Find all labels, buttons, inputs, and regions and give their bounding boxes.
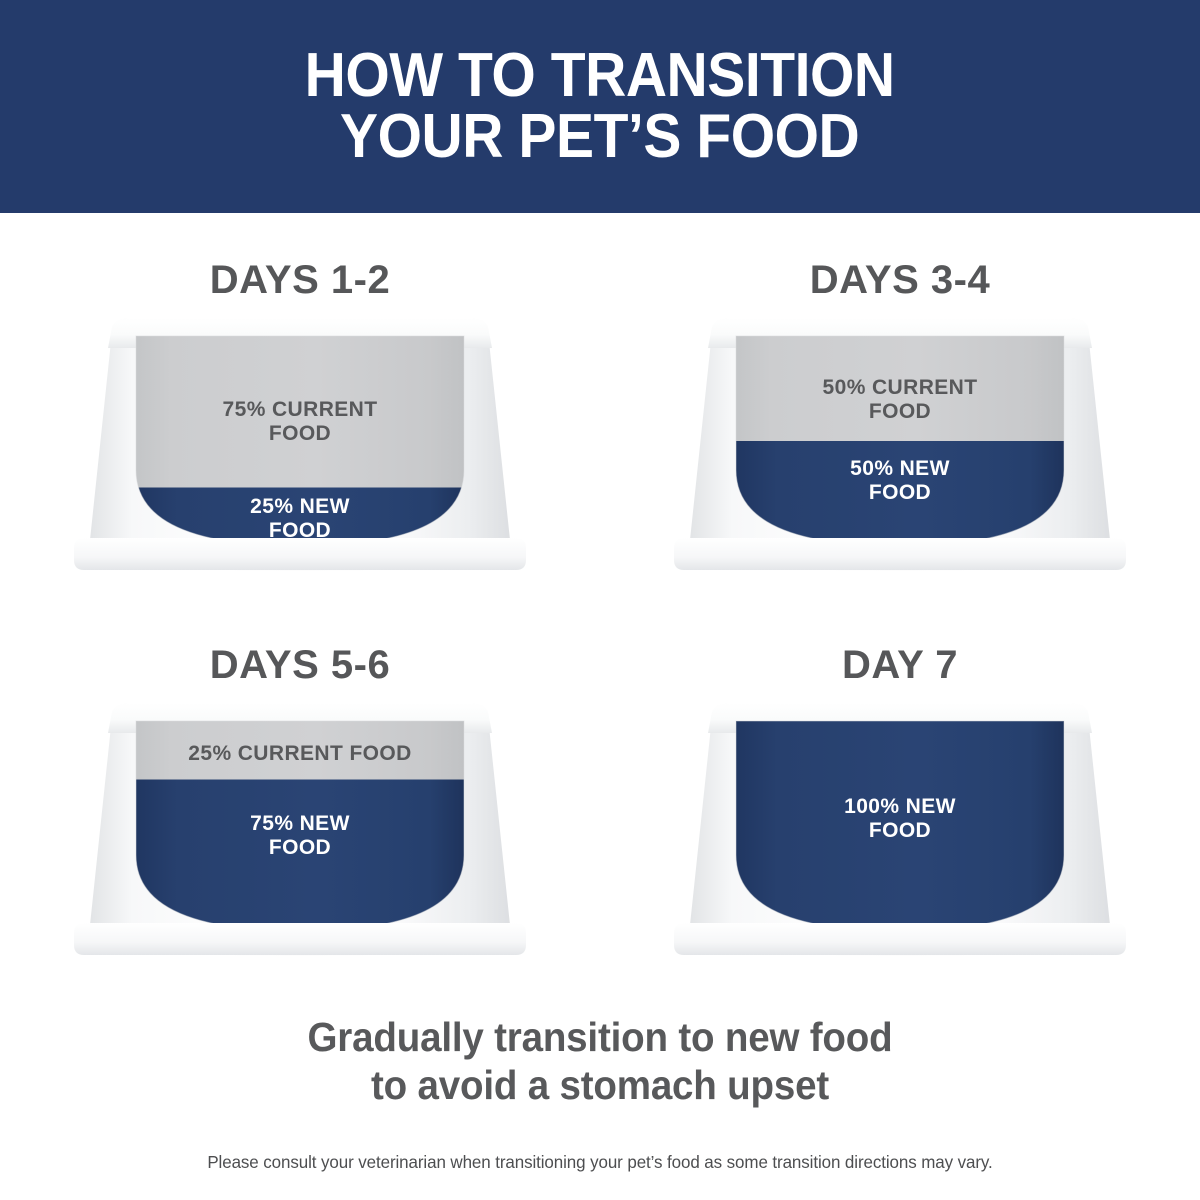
- transition-steps-grid: DAYS 1-2: [0, 213, 1200, 1013]
- food-bowl-days-1-2: 75% CURRENT FOOD 25% NEW FOOD: [40, 310, 560, 580]
- step-day-label: DAYS 3-4: [810, 213, 990, 300]
- disclaimer-text: Please consult your veterinarian when tr…: [18, 1110, 1182, 1173]
- food-bowl-days-3-4: 50% CURRENT FOOD 50% NEW FOOD: [640, 310, 1160, 580]
- step-card-days-3-4: DAYS 3-4: [600, 213, 1200, 598]
- bowl-illustration: [640, 695, 1160, 965]
- step-day-label: DAY 7: [842, 598, 958, 685]
- infographic-page: HOW TO TRANSITION YOUR PET’S FOOD DAYS 1…: [0, 0, 1200, 1200]
- header-banner: HOW TO TRANSITION YOUR PET’S FOOD: [0, 0, 1200, 213]
- footer-section: Gradually transition to new food to avoi…: [0, 1013, 1200, 1173]
- step-card-day-7: DAY 7 100% NEW: [600, 598, 1200, 983]
- page-title: HOW TO TRANSITION YOUR PET’S FOOD: [287, 46, 914, 168]
- step-card-days-5-6: DAYS 5-6: [0, 598, 600, 983]
- food-bowl-day-7: 100% NEW FOOD: [640, 695, 1160, 965]
- bowl-illustration: [40, 695, 560, 965]
- step-day-label: DAYS 1-2: [210, 213, 390, 300]
- bowl-illustration: [40, 310, 560, 580]
- step-day-label: DAYS 5-6: [210, 598, 390, 685]
- tagline-text: Gradually transition to new food to avoi…: [36, 1013, 1164, 1110]
- food-bowl-days-5-6: 25% CURRENT FOOD 75% NEW FOOD: [40, 695, 560, 965]
- step-card-days-1-2: DAYS 1-2: [0, 213, 600, 598]
- bowl-illustration: [640, 310, 1160, 580]
